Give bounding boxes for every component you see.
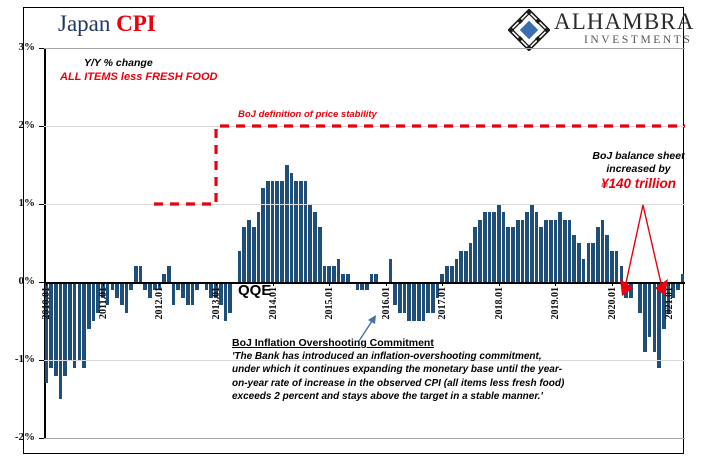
bar [521, 220, 525, 282]
x-axis-tick-label: 2010.01 [41, 287, 52, 320]
x-axis-tick-mark [442, 282, 443, 286]
bar [431, 282, 435, 313]
bar [572, 235, 576, 282]
bar [285, 165, 289, 282]
bar [252, 227, 256, 282]
y-axis-tick-label: 2% [9, 119, 35, 131]
y-axis-tick-label: -2% [9, 431, 35, 443]
bar [657, 282, 661, 368]
price-stability-label: BoJ definition of price stability [238, 109, 377, 120]
bar [582, 259, 586, 282]
bar [653, 282, 657, 352]
bar [294, 181, 298, 282]
bar [549, 220, 553, 282]
bar [445, 266, 449, 282]
x-axis-tick-label: 2016.01 [381, 287, 392, 320]
x-axis-tick-label: 2013.01 [211, 287, 222, 320]
y-axis-tick-mark [39, 204, 44, 205]
bar [82, 282, 86, 368]
bar [68, 282, 72, 360]
bar [290, 173, 294, 282]
bar [389, 259, 393, 282]
title-japan: Japan [58, 11, 116, 36]
bar [558, 212, 562, 282]
y-axis-tick-mark [39, 360, 44, 361]
bar [228, 282, 232, 313]
x-axis-tick-mark [499, 282, 500, 286]
page-title: Japan CPI [58, 11, 156, 37]
bar [167, 266, 171, 282]
x-axis-tick-mark [555, 282, 556, 286]
boj-commitment-heading: BoJ Inflation Overshooting Commitment [232, 337, 572, 349]
bar [120, 282, 124, 305]
bar [511, 227, 515, 282]
x-axis-tick-mark [216, 282, 217, 286]
bar [341, 274, 345, 282]
balance-sheet-line1: BoJ balance sheet [592, 150, 684, 162]
bar [332, 266, 336, 282]
bar [115, 282, 119, 298]
bar [681, 274, 685, 282]
y-axis-tick-label: -1% [9, 353, 35, 365]
diamond-logo-icon [508, 9, 550, 51]
bar [313, 212, 317, 282]
x-axis-tick-label: 2012.01 [154, 287, 165, 320]
bar [615, 251, 619, 282]
gridline [44, 438, 685, 439]
bar [299, 181, 303, 282]
bar [596, 227, 600, 282]
y-axis-tick-mark [39, 126, 44, 127]
logo-name: ALHAMBRA [554, 9, 694, 34]
x-axis-tick-mark [103, 282, 104, 286]
bar [450, 266, 454, 282]
bar [63, 282, 67, 376]
bar [497, 204, 501, 282]
bar [224, 282, 228, 321]
gridline [44, 48, 685, 49]
x-axis-tick-label: 2020.01 [607, 287, 618, 320]
bar [162, 274, 166, 282]
bar [374, 274, 378, 282]
y-axis-tick-label: 0% [9, 275, 35, 287]
bar [620, 266, 624, 282]
bar [502, 212, 506, 282]
bar [304, 181, 308, 282]
bar [591, 243, 595, 282]
bar [473, 227, 477, 282]
bar [261, 188, 265, 282]
bar [629, 282, 633, 298]
bar [601, 220, 605, 282]
logo-text: ALHAMBRA INVESTMENTS [554, 9, 694, 47]
bar [54, 282, 58, 376]
bar [417, 282, 421, 321]
x-axis-tick-mark [273, 282, 274, 286]
bar [544, 220, 548, 282]
bar [469, 243, 473, 282]
balance-sheet-line2: increased by [606, 163, 670, 175]
x-axis-tick-mark [46, 282, 47, 286]
x-axis-tick-label: 2015.01 [324, 287, 335, 320]
bar [638, 282, 642, 313]
bar [148, 282, 152, 298]
qqe-label: QQE [238, 282, 271, 299]
bar [624, 282, 628, 298]
bar [407, 282, 411, 321]
y-axis-tick-mark [39, 48, 44, 49]
bar [492, 212, 496, 282]
bar [577, 243, 581, 282]
x-axis-tick-mark [329, 282, 330, 286]
bar [337, 259, 341, 282]
bar [323, 266, 327, 282]
bar [271, 181, 275, 282]
x-axis-tick-mark [669, 282, 670, 286]
bar [516, 220, 520, 282]
bar [238, 251, 242, 282]
bar [483, 212, 487, 282]
x-axis-tick-label: 2018.01 [494, 287, 505, 320]
bar [643, 282, 647, 352]
bar [247, 220, 251, 282]
bar [134, 266, 138, 282]
bar [172, 282, 176, 305]
x-axis-tick-label: 2017.01 [437, 287, 448, 320]
bar [181, 282, 185, 298]
bar [125, 282, 129, 313]
bar [92, 282, 96, 321]
logo-subtitle: INVESTMENTS [554, 34, 694, 47]
bar [530, 204, 534, 282]
x-axis-tick-label: 2011.01 [98, 287, 109, 319]
bar [563, 220, 567, 282]
bar [554, 220, 558, 282]
bar [275, 181, 279, 282]
bar [440, 274, 444, 282]
y-axis-tick-label: 3% [9, 41, 35, 53]
gridline [44, 126, 685, 127]
bar [568, 220, 572, 282]
bar [318, 227, 322, 282]
x-axis-tick-label: 2021.01 [664, 287, 675, 320]
chart-root: Japan CPI ALHAMBRA [0, 0, 705, 461]
bar [327, 266, 331, 282]
bar [191, 282, 195, 305]
bar [488, 212, 492, 282]
bar [139, 266, 143, 282]
x-axis-tick-mark [612, 282, 613, 286]
title-cpi: CPI [116, 11, 156, 36]
gridline [44, 204, 685, 205]
bar [280, 181, 284, 282]
bar [478, 220, 482, 282]
bar [59, 282, 63, 399]
bar [398, 282, 402, 313]
bar [587, 243, 591, 282]
x-axis-tick-mark [386, 282, 387, 286]
bar [257, 212, 261, 282]
bar [186, 282, 190, 305]
bar [73, 282, 77, 368]
bar [539, 227, 543, 282]
bar [525, 212, 529, 282]
bar [610, 251, 614, 282]
zero-line [44, 282, 685, 284]
bar [346, 274, 350, 282]
bar [426, 282, 430, 313]
bar [464, 251, 468, 282]
bar [535, 212, 539, 282]
x-axis-tick-mark [159, 282, 160, 286]
y-axis-tick-label: 1% [9, 197, 35, 209]
bar [403, 282, 407, 313]
bar [308, 204, 312, 282]
bar [648, 282, 652, 337]
x-axis-tick-label: 2019.01 [550, 287, 561, 320]
bar [455, 259, 459, 282]
bar [605, 235, 609, 282]
y-axis-tick-mark [39, 438, 44, 439]
bar [370, 274, 374, 282]
balance-sheet-amount: ¥140 trillion [576, 177, 701, 190]
bar [393, 282, 397, 305]
bar [87, 282, 91, 329]
bar [422, 282, 426, 321]
boj-commitment-box: BoJ Inflation Overshooting Commitment 'T… [232, 337, 572, 404]
balance-sheet-note: BoJ balance sheet increased by ¥140 tril… [576, 150, 701, 190]
bar [266, 181, 270, 282]
bar [459, 251, 463, 282]
bar [242, 227, 246, 282]
boj-commitment-body: 'The Bank has introduced an inflation-ov… [232, 350, 572, 404]
bar [506, 227, 510, 282]
bar [412, 282, 416, 321]
bar [78, 282, 82, 360]
